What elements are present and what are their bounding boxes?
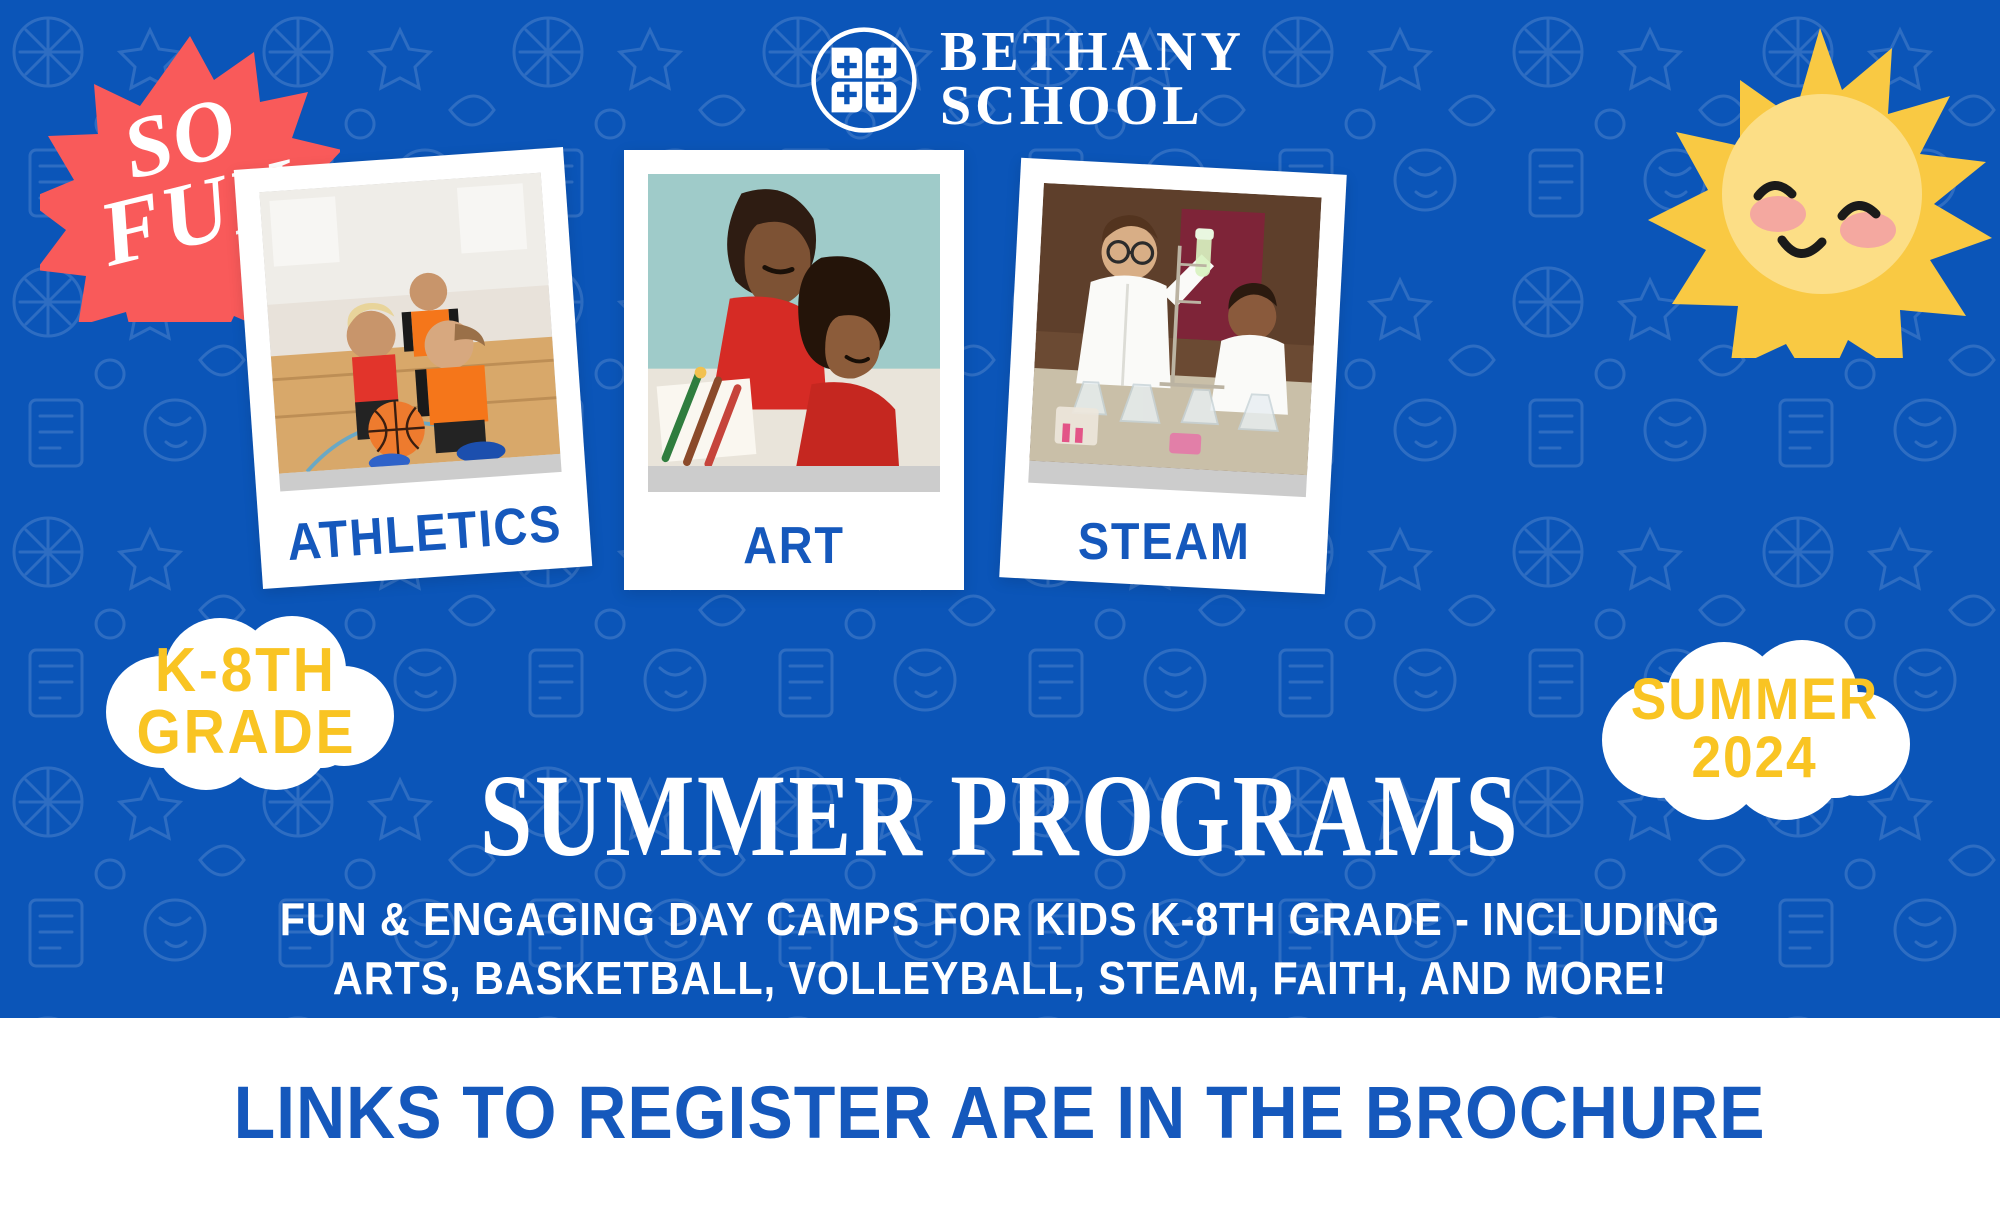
page-title: SUMMER PROGRAMS [200,748,1800,884]
bottom-banner: LINKS TO REGISTER ARE IN THE BROCHURE [0,1018,2000,1206]
program-card-art[interactable]: ART [624,150,964,590]
subtitle-line1: FUN & ENGAGING DAY CAMPS FOR KIDS K-8TH … [100,890,1900,949]
brand-name: BETHANY SCHOOL [940,26,1245,134]
summer-cloud-badge: SUMMER 2024 [1590,636,1920,822]
summer-cloud-line1: SUMMER [1631,671,1879,729]
steam-photo [1028,183,1321,497]
smiling-sun-icon [1630,18,2000,358]
bottom-banner-text: LINKS TO REGISTER ARE IN THE BROCHURE [234,1070,1766,1155]
jerusalem-cross-icon [810,26,918,134]
athletics-photo [259,173,561,492]
summer-programs-poster: BETHANY SCHOOL SO FUN [0,0,2000,1206]
brand-name-line1: BETHANY [940,26,1245,80]
art-photo [648,174,940,492]
program-card-steam[interactable]: STEAM [999,158,1347,594]
grade-cloud-line2: GRADE [136,702,356,764]
card-caption-steam: STEAM [1018,512,1311,572]
brand-logo: BETHANY SCHOOL [810,26,1245,134]
brand-name-line2: SCHOOL [940,80,1245,134]
card-caption-athletics: ATHLETICS [274,493,574,574]
card-caption-art: ART [641,516,947,576]
grade-cloud-line1: K-8TH [155,640,337,702]
grade-cloud-badge: K-8TH GRADE [96,612,396,792]
page-subtitle: FUN & ENGAGING DAY CAMPS FOR KIDS K-8TH … [0,890,2000,1008]
program-card-athletics[interactable]: ATHLETICS [234,147,592,589]
summer-cloud-line2: 2024 [1692,729,1818,787]
subtitle-line2: ARTS, BASKETBALL, VOLLEYBALL, STEAM, FAI… [100,949,1900,1008]
